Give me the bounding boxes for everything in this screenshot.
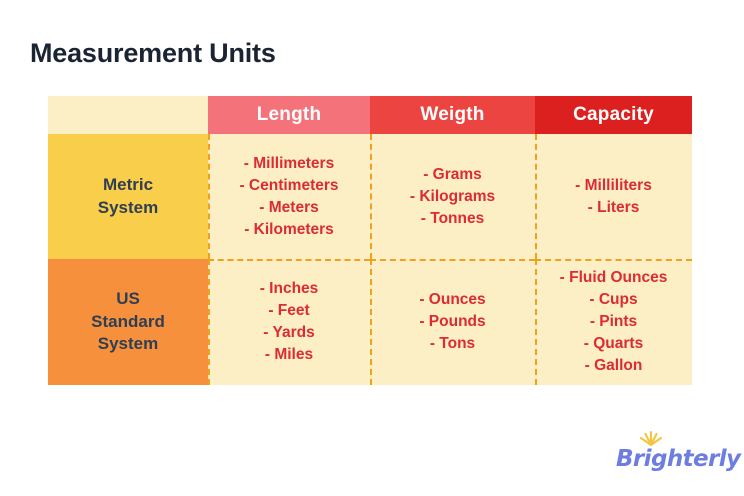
list-item: - Inches (260, 278, 319, 300)
list-item: - Tonnes (421, 208, 484, 230)
list-item: - Grams (423, 164, 482, 186)
list-item: - Yards (263, 322, 314, 344)
column-divider-dashed (535, 259, 537, 385)
column-divider-dashed (208, 134, 210, 259)
row-label-us-standard-system: US Standard System (48, 259, 208, 385)
list-item: - Liters (588, 197, 640, 219)
measurement-units-table: Length Weigth Capacity Metric System - M… (48, 96, 692, 385)
list-item: - Pounds (419, 311, 485, 333)
row-label-us-line3: System (98, 333, 158, 355)
page-title: Measurement Units (30, 38, 276, 69)
cell-metric-weight: - Grams - Kilograms - Tonnes (370, 134, 535, 259)
list-item: - Quarts (584, 333, 643, 355)
cell-us-length: - Inches - Feet - Yards - Miles (208, 259, 370, 385)
list-item: - Gallon (585, 355, 643, 377)
cell-us-weight: - Ounces - Pounds - Tons (370, 259, 535, 385)
column-divider-dashed (370, 259, 372, 385)
list-item: - Millimeters (244, 153, 334, 175)
list-item: - Cups (589, 289, 637, 311)
row-divider-dashed (208, 259, 370, 261)
logo-wordmark: Brighterly (616, 446, 740, 472)
row-label-us-line1: US (116, 288, 140, 310)
list-item: - Tons (430, 333, 475, 355)
table-header-length: Length (208, 96, 370, 134)
column-divider-dashed (535, 134, 537, 259)
row-label-metric-line2: System (98, 197, 158, 219)
list-item: - Feet (268, 300, 309, 322)
list-item: - Miles (265, 344, 313, 366)
table-header-capacity: Capacity (535, 96, 692, 134)
row-label-us-line2: Standard (91, 311, 165, 333)
list-item: - Meters (259, 197, 318, 219)
list-item: - Centimeters (239, 175, 338, 197)
row-divider-dashed (535, 259, 692, 261)
row-label-metric-line1: Metric (103, 174, 153, 196)
list-item: - Fluid Ounces (560, 267, 668, 289)
list-item: - Pints (590, 311, 637, 333)
cell-metric-length: - Millimeters - Centimeters - Meters - K… (208, 134, 370, 259)
list-item: - Ounces (419, 289, 485, 311)
table-header-weight: Weigth (370, 96, 535, 134)
brighterly-logo: Brighterly (616, 430, 726, 474)
table-header-corner (48, 96, 208, 134)
column-divider-dashed (370, 134, 372, 259)
cell-metric-capacity: - Milliliters - Liters (535, 134, 692, 259)
row-label-metric-system: Metric System (48, 134, 208, 259)
sunburst-icon (638, 430, 664, 446)
cell-us-capacity: - Fluid Ounces - Cups - Pints - Quarts -… (535, 259, 692, 385)
row-divider-dashed (370, 259, 535, 261)
list-item: - Milliliters (575, 175, 652, 197)
column-divider-dashed (208, 259, 210, 385)
list-item: - Kilograms (410, 186, 495, 208)
list-item: - Kilometers (244, 219, 334, 241)
